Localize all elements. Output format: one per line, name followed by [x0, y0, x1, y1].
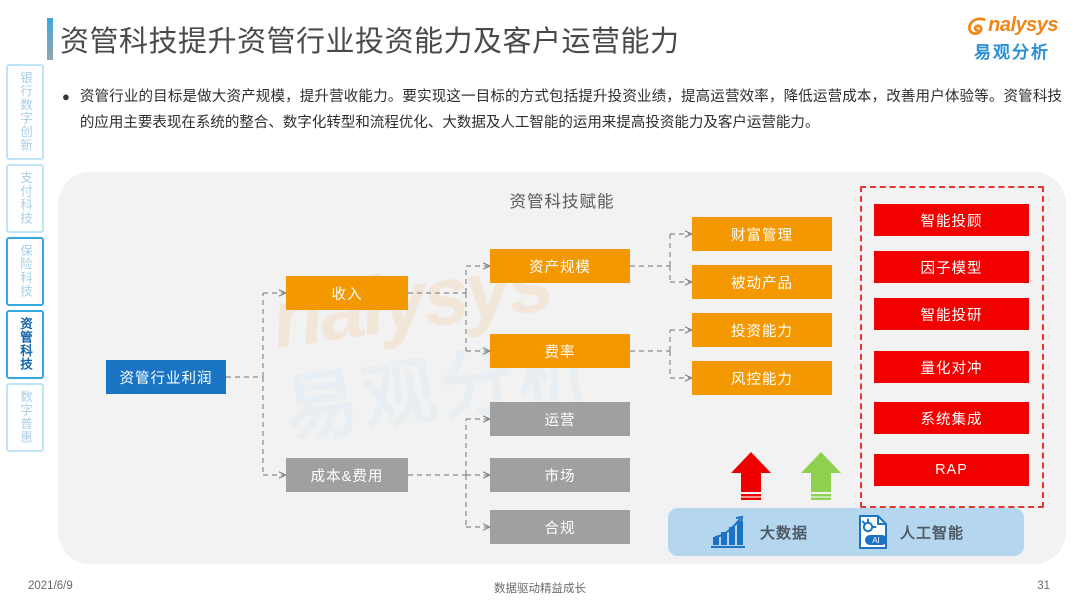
- page-title: 资管科技提升资管行业投资能力及客户运营能力: [60, 18, 680, 60]
- foundation-label-ai: 人工智能: [900, 522, 964, 543]
- sidebar-item-label: 数字普惠: [18, 390, 32, 444]
- analysys-mark-icon: [966, 15, 988, 37]
- node-investment-capability[interactable]: 投资能力: [692, 313, 832, 347]
- foundation-bar: 大数据 AI 人工智能: [668, 508, 1024, 556]
- foundation-item-ai[interactable]: AI 人工智能: [856, 514, 964, 550]
- sidebar-item-digital-inclusive[interactable]: 数字普惠: [6, 383, 44, 452]
- intro-text: 资管行业的目标是做大资产规模，提升营收能力。要实现这一目标的方式包括提升投资业绩…: [80, 84, 1062, 136]
- sidebar-item-label: 银行数字创新: [18, 71, 32, 152]
- svg-text:AI: AI: [872, 536, 880, 545]
- node-revenue[interactable]: 收入: [286, 276, 408, 310]
- foundation-item-big-data[interactable]: 大数据: [710, 515, 808, 549]
- footer: 2021/6/9 数据驱动精益成长 31: [0, 580, 1080, 600]
- node-operations[interactable]: 运营: [490, 402, 630, 436]
- node-passive-products[interactable]: 被动产品: [692, 265, 832, 299]
- sidebar: 银行数字创新 支付科技 保险科技 资管科技 数字普惠: [6, 64, 44, 452]
- analysys-logo: nalysys 易观分析: [966, 14, 1058, 63]
- node-robo-advisor[interactable]: 智能投顾: [874, 204, 1029, 236]
- sidebar-item-label: 支付科技: [18, 171, 32, 225]
- footer-tagline: 数据驱动精益成长: [0, 580, 1080, 596]
- node-asset-scale[interactable]: 资产规模: [490, 249, 630, 283]
- node-factor-model[interactable]: 因子模型: [874, 251, 1029, 283]
- logo-row: nalysys: [966, 14, 1058, 37]
- logo-wordmark: nalysys: [988, 14, 1058, 37]
- node-wealth-management[interactable]: 财富管理: [692, 217, 832, 251]
- sidebar-item-bank-digital-innovation[interactable]: 银行数字创新: [6, 64, 44, 160]
- sidebar-item-label: 保险科技: [18, 244, 32, 298]
- node-market[interactable]: 市场: [490, 458, 630, 492]
- sidebar-item-payment-tech[interactable]: 支付科技: [6, 164, 44, 233]
- node-cost-expense[interactable]: 成本&费用: [286, 458, 408, 492]
- title-accent-bar: [47, 18, 53, 60]
- sidebar-item-insurance-tech[interactable]: 保险科技: [6, 237, 44, 306]
- node-asset-management-profit[interactable]: 资管行业利润: [106, 360, 226, 394]
- bullet-icon: ●: [62, 84, 70, 136]
- foundation-label-big-data: 大数据: [760, 522, 808, 543]
- logo-chinese-name: 易观分析: [966, 38, 1058, 63]
- red-up-arrow-icon: [728, 450, 774, 504]
- node-fee-rate[interactable]: 费率: [490, 334, 630, 368]
- node-system-integration[interactable]: 系统集成: [874, 402, 1029, 434]
- node-risk-control-capability[interactable]: 风控能力: [692, 361, 832, 395]
- footer-page-number: 31: [1037, 580, 1050, 592]
- node-smart-research[interactable]: 智能投研: [874, 298, 1029, 330]
- node-rap[interactable]: RAP: [874, 454, 1029, 486]
- bar-chart-icon: [710, 515, 750, 549]
- sidebar-item-label: 资管科技: [18, 317, 32, 371]
- node-quant-hedging[interactable]: 量化对冲: [874, 351, 1029, 383]
- green-up-arrow-icon: [798, 450, 844, 504]
- ai-document-icon: AI: [856, 514, 890, 550]
- node-compliance[interactable]: 合规: [490, 510, 630, 544]
- diagram-card: nalysys 易观分析 资管科技赋能: [58, 172, 1066, 564]
- intro-paragraph: ● 资管行业的目标是做大资产规模，提升营收能力。要实现这一目标的方式包括提升投资…: [62, 84, 1062, 136]
- sidebar-item-asset-management-tech[interactable]: 资管科技: [6, 310, 44, 379]
